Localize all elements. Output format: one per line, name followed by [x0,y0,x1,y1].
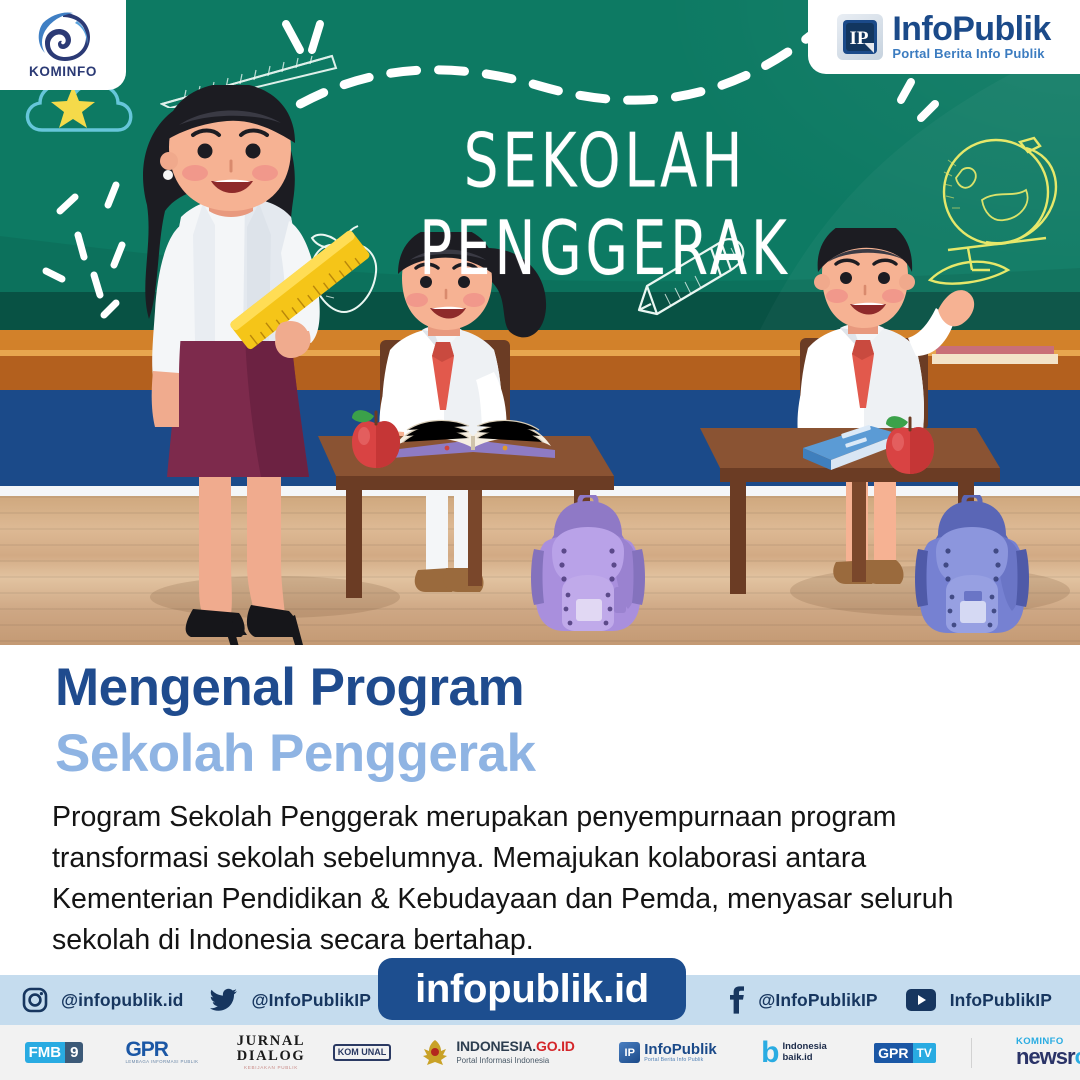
gpr-tagline: LEMBAGA INFORMASI PUBLIK [125,1060,198,1064]
goid-tagline: Portal Informasi Indonesia [456,1057,574,1065]
infopublik-small-name: InfoPublik [644,1042,717,1057]
infopublik-logo-small[interactable]: IP InfoPublik Portal Berita Info Publik [598,1025,738,1080]
fmb9-part2: 9 [65,1042,83,1063]
red-apple [348,406,404,470]
blue-backpack [912,495,1032,637]
indonesia-baik-line2: baik.id [782,1053,826,1064]
jurnal-dialog-logo[interactable]: JURNAL DIALOG KEBIJAKAN PUBLIK [216,1025,326,1080]
fmb9-part1: FMB [25,1042,66,1063]
komunal-text: KOM UNAL [333,1044,392,1061]
infopublik-logo: IP InfoPublik Portal Berita Info Publik [808,0,1080,74]
instagram-handle[interactable]: @infopublik.id [61,990,183,1011]
gpr-tv-logo[interactable]: GPR TV [850,1025,960,1080]
infopublik-ip-icon: IP [619,1042,640,1063]
goid-accent: GO.ID [536,1038,575,1054]
newsroom-accent: oo [1075,1044,1080,1069]
body-paragraph: Program Sekolah Penggerak merupakan peny… [52,797,1012,961]
gprtv-left: GPR [874,1043,912,1063]
indonesia-go-id-logo[interactable]: INDONESIA.GO.ID Portal Informasi Indones… [398,1025,598,1080]
kominfo-logo: KOMINFO [0,0,126,90]
page-title-line2: Sekolah Penggerak [55,723,535,784]
indonesia-baik-logo[interactable]: b Indonesia baik.id [738,1025,850,1080]
newsroom-main: newsr [1016,1044,1075,1069]
facebook-icon[interactable] [727,986,745,1014]
gpr-logo[interactable]: GPR LEMBAGA INFORMASI PUBLIK [108,1025,216,1080]
infopublik-tagline: Portal Berita Info Publik [892,46,1050,61]
kominfo-label: KOMINFO [29,64,97,79]
social-links-right: @InfoPublikIP InfoPublikIP [727,975,1052,1025]
infographic-poster: SEKOLAH PENGGERAK KOMINFO IP InfoPub [0,0,1080,1080]
jurnal-tagline: KEBIJAKAN PUBLIK [237,1066,305,1071]
website-label: infopublik.id [415,967,649,1012]
fmb9-logo[interactable]: FMB 9 [0,1025,108,1080]
star-icon [49,84,97,132]
page-title-line1: Mengenal Program [55,657,524,718]
purple-backpack [528,495,648,635]
indonesia-baik-mark: b [761,1042,779,1063]
twitter-icon[interactable] [210,988,238,1012]
youtube-icon[interactable] [905,988,937,1012]
indonesia-baik-line1: Indonesia [782,1042,826,1053]
partner-divider [971,1038,972,1068]
social-links-left: @infopublik.id @InfoPublikIP [22,975,371,1025]
garuda-icon [421,1038,449,1068]
website-pill-button[interactable]: infopublik.id [378,958,686,1020]
gprtv-right: TV [913,1043,936,1063]
infopublik-name: InfoPublik [892,13,1050,45]
open-book [385,396,565,466]
jurnal-line2: DIALOG [237,1049,305,1064]
classroom-illustration: SEKOLAH PENGGERAK KOMINFO IP InfoPub [0,0,1080,645]
jurnal-line1: JURNAL [237,1034,305,1049]
goid-text: INDONESIA. [456,1038,536,1054]
text-content-section: Mengenal Program Sekolah Penggerak Progr… [0,645,1080,955]
twitter-handle[interactable]: @InfoPublikIP [251,990,370,1011]
gpr-text: GPR [125,1038,168,1061]
partner-logo-strip: FMB 9 GPR LEMBAGA INFORMASI PUBLIK JURNA… [0,1025,1080,1080]
chalkboard-title: SEKOLAH PENGGERAK [355,118,854,292]
kominfo-globe-icon [33,11,93,63]
red-apple [882,412,938,476]
kominfo-newsroom-logo[interactable]: KOMINFO newsroom [982,1025,1080,1080]
instagram-icon[interactable] [22,987,48,1013]
youtube-handle[interactable]: InfoPublikIP [950,990,1052,1011]
facebook-handle[interactable]: @InfoPublikIP [758,990,877,1011]
infopublik-ip-icon: IP [837,14,883,60]
komunal-logo[interactable]: KOM UNAL [326,1025,398,1080]
svg-text:IP: IP [850,28,869,49]
